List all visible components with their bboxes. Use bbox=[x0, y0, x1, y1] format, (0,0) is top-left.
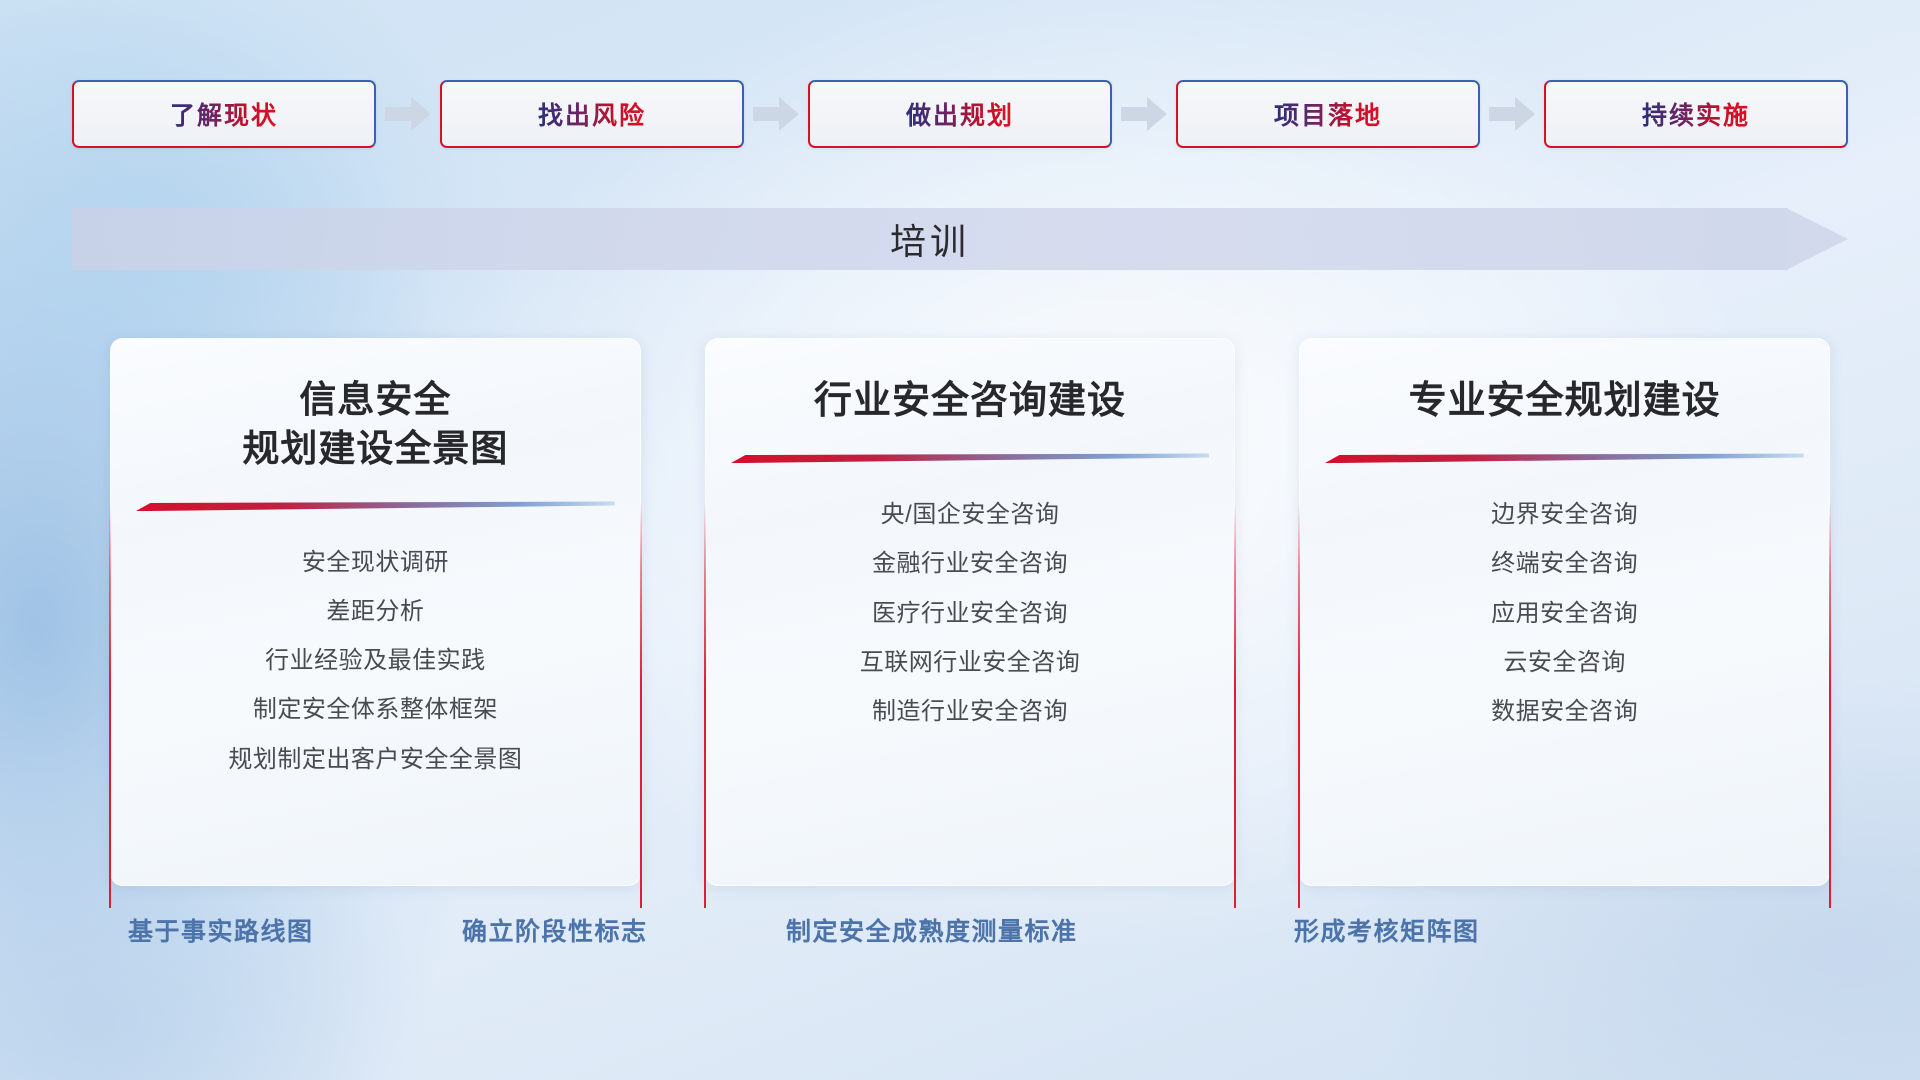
step-label-1: 了解现状 bbox=[170, 96, 278, 132]
list-item: 差距分析 bbox=[326, 591, 424, 632]
card-item-list: 安全现状调研 差距分析 行业经验及最佳实践 制定安全体系整体框架 规划制定出客户… bbox=[136, 542, 615, 780]
step-label-4: 项目落地 bbox=[1274, 96, 1382, 132]
training-banner-arrow-icon bbox=[1786, 199, 1848, 279]
training-banner-title: 培训 bbox=[72, 208, 1788, 270]
step-box-5[interactable]: 持续实施 bbox=[1544, 80, 1848, 148]
step-arrow-2 bbox=[744, 94, 808, 134]
card-left-accent-line bbox=[704, 502, 706, 908]
card-divider-icon bbox=[1325, 452, 1804, 464]
step-box-4[interactable]: 项目落地 bbox=[1176, 80, 1480, 148]
card-industry-security-consulting[interactable]: 行业安全咨询建设 央/国企安全咨询 bbox=[705, 338, 1236, 886]
slide-canvas: 了解现状 找出风险 做出规划 项目落地 bbox=[0, 0, 1920, 1080]
capability-card-row: 信息安全 规划建设全景图 安全现状调研 bbox=[110, 338, 1830, 886]
list-item: 金融行业安全咨询 bbox=[872, 543, 1068, 584]
list-item: 制造行业安全咨询 bbox=[872, 691, 1068, 732]
list-item: 边界安全咨询 bbox=[1491, 494, 1638, 535]
card-right-accent-line bbox=[1829, 502, 1831, 908]
list-item: 医疗行业安全咨询 bbox=[872, 593, 1068, 634]
list-item: 安全现状调研 bbox=[302, 542, 449, 583]
step-arrow-4 bbox=[1480, 94, 1544, 134]
footer-label-2: 确立阶段性标志 bbox=[462, 912, 648, 948]
footer-label-1: 基于事实路线图 bbox=[128, 912, 314, 948]
card-item-list: 边界安全咨询 终端安全咨询 应用安全咨询 云安全咨询 数据安全咨询 bbox=[1325, 494, 1804, 732]
list-item: 云安全咨询 bbox=[1503, 642, 1626, 683]
footer-outcome-labels: 基于事实路线图 确立阶段性标志 制定安全成熟度测量标准 形成考核矩阵图 bbox=[0, 912, 1920, 958]
card-title: 信息安全 规划建设全景图 bbox=[242, 376, 508, 474]
step-box-3[interactable]: 做出规划 bbox=[808, 80, 1112, 148]
step-arrow-1 bbox=[376, 94, 440, 134]
list-item: 行业经验及最佳实践 bbox=[265, 640, 486, 681]
step-box-2[interactable]: 找出风险 bbox=[440, 80, 744, 148]
card-right-accent-line bbox=[1234, 502, 1236, 908]
list-item: 制定安全体系整体框架 bbox=[253, 689, 498, 730]
training-banner: 培训 bbox=[72, 208, 1848, 270]
list-item: 规划制定出客户安全全景图 bbox=[228, 739, 522, 780]
footer-label-3: 制定安全成熟度测量标准 bbox=[786, 912, 1078, 948]
step-label-3: 做出规划 bbox=[906, 96, 1014, 132]
list-item: 终端安全咨询 bbox=[1491, 543, 1638, 584]
card-title: 专业安全规划建设 bbox=[1409, 376, 1721, 426]
list-item: 应用安全咨询 bbox=[1491, 593, 1638, 634]
card-information-security-blueprint[interactable]: 信息安全 规划建设全景图 安全现状调研 bbox=[110, 338, 641, 886]
card-left-accent-line bbox=[1298, 502, 1300, 908]
footer-label-4: 形成考核矩阵图 bbox=[1294, 912, 1480, 948]
step-label-5: 持续实施 bbox=[1642, 96, 1750, 132]
card-divider-icon bbox=[136, 500, 615, 512]
step-label-2: 找出风险 bbox=[538, 96, 646, 132]
card-divider-icon bbox=[731, 452, 1210, 464]
step-arrow-3 bbox=[1112, 94, 1176, 134]
card-left-accent-line bbox=[109, 502, 111, 908]
step-box-1[interactable]: 了解现状 bbox=[72, 80, 376, 148]
process-step-row: 了解现状 找出风险 做出规划 项目落地 bbox=[72, 80, 1848, 148]
list-item: 数据安全咨询 bbox=[1491, 691, 1638, 732]
card-right-accent-line bbox=[640, 502, 642, 908]
list-item: 央/国企安全咨询 bbox=[881, 494, 1060, 535]
card-title: 行业安全咨询建设 bbox=[814, 376, 1126, 426]
card-item-list: 央/国企安全咨询 金融行业安全咨询 医疗行业安全咨询 互联网行业安全咨询 制造行… bbox=[731, 494, 1210, 732]
list-item: 互联网行业安全咨询 bbox=[860, 642, 1081, 683]
card-professional-security-planning[interactable]: 专业安全规划建设 边界安全咨询 bbox=[1299, 338, 1830, 886]
